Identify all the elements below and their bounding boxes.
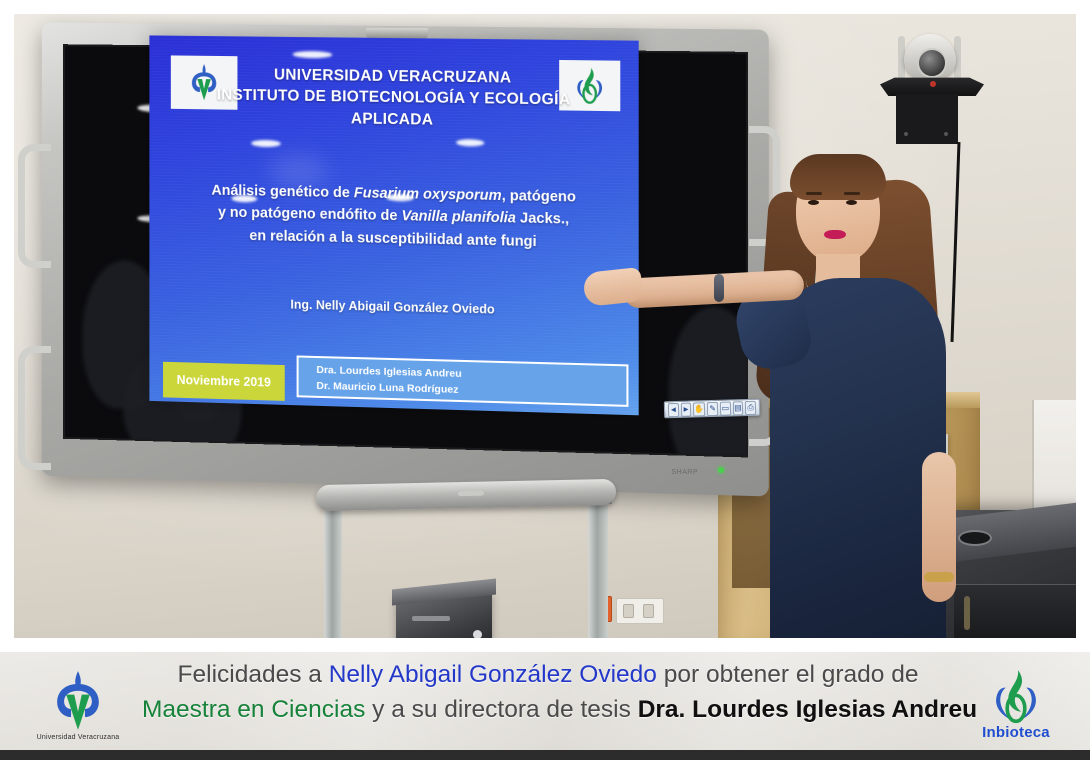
camera-wall-mount: [896, 94, 958, 144]
banner-line-2: Maestra en Ciencias y a su directora de …: [142, 693, 954, 728]
slide-advisors-box: Dra. Lourdes Iglesias Andreu Dr. Maurici…: [297, 355, 629, 406]
banner-line1-prefix: Felicidades a: [178, 661, 329, 688]
slide-author: Ing. Nelly Abigail González Oviedo: [183, 295, 606, 319]
display-stand-leg-left: [324, 496, 342, 652]
display-side-handle-left-top: [18, 144, 51, 268]
pen-icon[interactable]: ✎: [707, 401, 718, 415]
display-stand-leg-right: [588, 496, 608, 652]
title-line2-suffix: Jacks.,: [516, 211, 569, 228]
keyboard-icon[interactable]: ▤: [732, 401, 743, 415]
polycom-conference-camera: [884, 30, 1004, 150]
presenter-hand: [582, 267, 643, 307]
banner-line1-suffix: por obtener el grado de: [657, 661, 919, 688]
slide-title: Análisis genético de Fusarium oxysporum,…: [183, 179, 606, 255]
desktop-computer-tower: [396, 592, 492, 652]
back-arrow-icon[interactable]: ◄: [668, 402, 679, 416]
inbioteca-logo-banner: Inbioteca: [956, 658, 1076, 750]
display-brand-label: SHARP: [671, 469, 698, 476]
pointer-icon[interactable]: ✋: [693, 402, 705, 416]
presentation-slide: UNIVERSIDAD VERACRUZANA INSTITUTO DE BIO…: [149, 35, 638, 415]
uv-logo-caption: Universidad Veracruzana: [37, 734, 120, 741]
thesis-director-name: Dra. Lourdes Iglesias Andreu: [638, 696, 977, 723]
slide-date-badge: Noviembre 2019: [163, 362, 285, 401]
photo-announcement-card: SHARP U: [0, 0, 1090, 760]
eraser-icon[interactable]: ▭: [720, 401, 731, 415]
banner-text: Felicidades a Nelly Abigail González Ovi…: [142, 658, 954, 728]
universidad-veracruzana-logo-banner: Universidad Veracruzana: [22, 662, 134, 748]
title-line2-prefix: y no patógeno endófito de: [218, 205, 401, 225]
banner-bottom-rule: [0, 750, 1090, 760]
display-side-handle-left-bottom: [18, 346, 51, 470]
title-line2-species: Vanilla planifolia: [401, 209, 515, 227]
graduate-name: Nelly Abigail González Oviedo: [329, 661, 657, 688]
event-photograph: SHARP U: [0, 0, 1090, 652]
forward-arrow-icon[interactable]: ►: [680, 402, 691, 416]
wall-power-outlet: [616, 598, 664, 624]
congratulations-banner: Universidad Veracruzana Felicidades a Ne…: [0, 646, 1090, 760]
camera-lens: [917, 48, 947, 78]
presenter-wristwatch: [924, 572, 954, 582]
presenter-fringe: [790, 154, 886, 200]
presenter-bracelet: [714, 274, 724, 302]
title-line1-suffix: , patógeno: [502, 188, 576, 206]
slide-heading: UNIVERSIDAD VERACRUZANA INSTITUTO DE BIO…: [208, 64, 579, 133]
banner-top-rule: [0, 646, 1090, 652]
inbioteca-logo-caption: Inbioteca: [982, 724, 1050, 741]
title-line1-species: Fusarium oxysporum: [354, 185, 502, 204]
banner-line2-middle: y a su directora de tesis: [365, 696, 637, 723]
display-power-led: [718, 467, 724, 473]
degree-name: Maestra en Ciencias: [142, 696, 365, 723]
banner-line-1: Felicidades a Nelly Abigail González Ovi…: [142, 658, 954, 693]
camera-indicator-dot: [930, 81, 936, 87]
presenter: [744, 152, 980, 652]
presenter-lips: [824, 230, 846, 239]
